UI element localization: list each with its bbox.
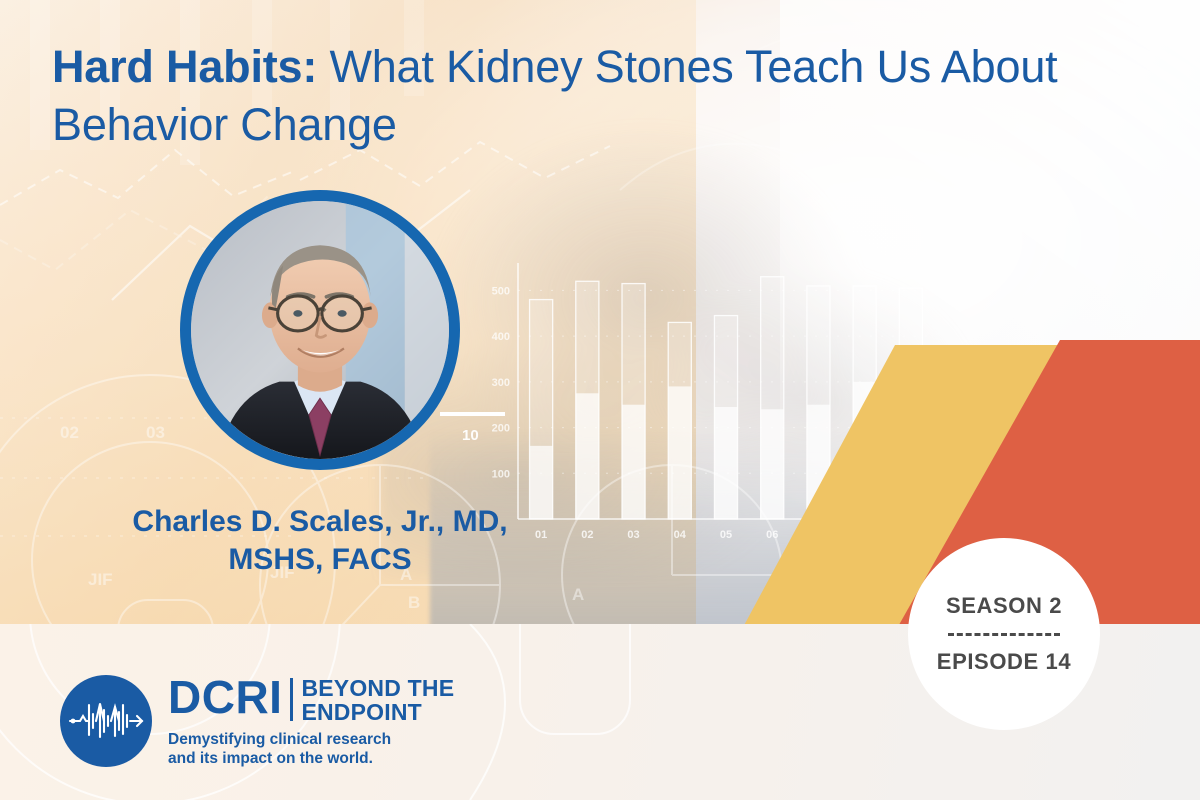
logo-divider xyxy=(290,678,293,721)
episode-label: EPISODE 14 xyxy=(937,649,1071,675)
season-label: SEASON 2 xyxy=(946,593,1062,619)
podcast-episode-card: JIF JIF A B C A B C 02 03 04 100200300 xyxy=(0,0,1200,800)
show-name-line2: ENDPOINT xyxy=(301,701,454,725)
speaker-avatar xyxy=(180,190,460,470)
speaker-name-line2: MSHS, FACS xyxy=(60,541,580,579)
speaker-name: Charles D. Scales, Jr., MD, MSHS, FACS xyxy=(60,503,580,578)
tagline-line1: Demystifying clinical research xyxy=(168,730,454,749)
title-prefix: Hard Habits: xyxy=(52,41,317,92)
show-name: BEYOND THE ENDPOINT xyxy=(301,675,454,725)
tagline-line2: and its impact on the world. xyxy=(168,749,454,768)
dcri-logo-row: DCRI BEYOND THE ENDPOINT xyxy=(168,675,454,725)
page-title: Hard Habits: What Kidney Stones Teach Us… xyxy=(52,38,1142,153)
dcri-logo-text: DCRI BEYOND THE ENDPOINT Demystifying cl… xyxy=(168,675,454,768)
dcri-wordmark: DCRI xyxy=(168,675,282,720)
dcri-waveform-icon xyxy=(60,675,152,767)
show-name-line1: BEYOND THE xyxy=(301,677,454,701)
avatar-image xyxy=(191,201,449,459)
dcri-logo: DCRI BEYOND THE ENDPOINT Demystifying cl… xyxy=(60,675,454,768)
badge-divider xyxy=(948,633,1060,636)
dcri-tagline: Demystifying clinical research and its i… xyxy=(168,730,454,768)
speaker-name-line1: Charles D. Scales, Jr., MD, xyxy=(60,503,580,541)
season-episode-badge: SEASON 2 EPISODE 14 xyxy=(908,538,1100,730)
